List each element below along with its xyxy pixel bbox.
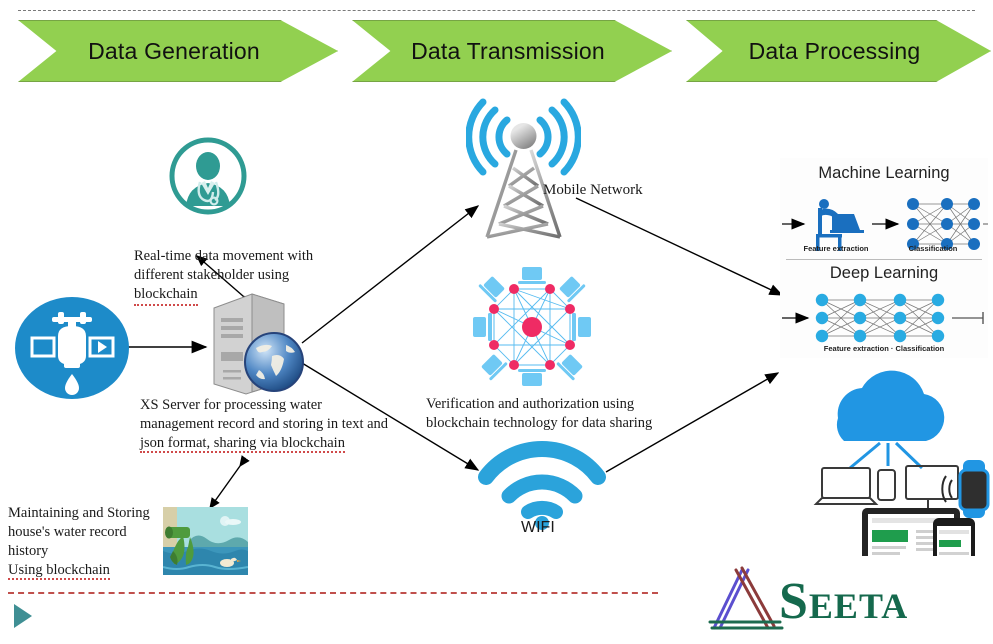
deep-learning-title: Deep Learning	[780, 264, 988, 283]
doctor-stakeholder-icon[interactable]	[168, 136, 248, 216]
history-annotation-line-3: history	[8, 542, 168, 561]
history-annotation-line-1: Maintaining and Storing	[8, 504, 168, 523]
server-annotation-line-1: XS Server for processing water	[140, 396, 412, 415]
blockchain-annotation-line-1: Verification and authorization using	[426, 395, 676, 414]
panel-divider	[786, 259, 982, 260]
dl-step-feature-classification: Feature extraction · Classification	[794, 344, 974, 353]
stakeholder-annotation: Real-time data movement with different s…	[134, 247, 348, 306]
server-annotation-line-2: management record and storing in text an…	[140, 415, 412, 434]
stakeholder-annotation-line-3: blockchain	[134, 285, 198, 306]
blockchain-annotation: Verification and authorization using blo…	[426, 395, 676, 433]
history-annotation-line-2: house's water record	[8, 523, 168, 542]
ml-step-classification: Classification	[894, 244, 972, 253]
phase-label-data-transmission: Data Transmission	[411, 38, 605, 65]
server-globe-icon[interactable]	[206, 290, 312, 398]
server-annotation-line-3: json format, sharing via blockchain	[140, 435, 345, 453]
polluted-water-photo	[163, 507, 248, 575]
seeta-logo-mark	[706, 566, 786, 638]
phase-label-data-generation: Data Generation	[88, 38, 260, 65]
play-triangle-marker[interactable]	[14, 604, 32, 628]
bottom-dashed-divider	[8, 592, 658, 594]
phase-banner-data-transmission[interactable]: Data Transmission	[352, 20, 672, 82]
server-annotation: XS Server for processing water managemen…	[140, 396, 412, 453]
mobile-network-tower-icon[interactable]	[466, 96, 581, 241]
machine-learning-title: Machine Learning	[780, 164, 988, 183]
blockchain-annotation-line-2: blockchain technology for data sharing	[426, 414, 676, 433]
processing-panel: Machine Learning	[780, 158, 988, 358]
history-annotation-line-4: Using blockchain	[8, 562, 110, 580]
phase-label-data-processing: Data Processing	[749, 38, 921, 65]
stakeholder-annotation-line-2: different stakeholder using	[134, 266, 348, 285]
wifi-icon[interactable]	[476, 437, 608, 531]
wifi-label: WIFI	[521, 519, 555, 537]
water-tap-meter-icon[interactable]	[14, 296, 130, 400]
diagram-canvas: Data Generation Data Transmission Data P…	[0, 0, 993, 644]
top-dashed-divider	[18, 10, 975, 11]
stakeholder-annotation-line-1: Real-time data movement with	[134, 247, 348, 266]
ml-step-feature-extraction: Feature extraction	[794, 244, 878, 253]
phase-banner-data-generation[interactable]: Data Generation	[18, 20, 338, 82]
cloud-devices-icon[interactable]	[800, 360, 990, 556]
mobile-network-label: Mobile Network	[543, 182, 643, 199]
deep-learning-graphic	[780, 290, 988, 350]
phase-banner-data-processing[interactable]: Data Processing	[686, 20, 991, 82]
history-annotation: Maintaining and Storing house's water re…	[8, 504, 168, 580]
blockchain-network-icon[interactable]	[468, 263, 596, 391]
seeta-logo-text: Seeta	[779, 572, 908, 631]
